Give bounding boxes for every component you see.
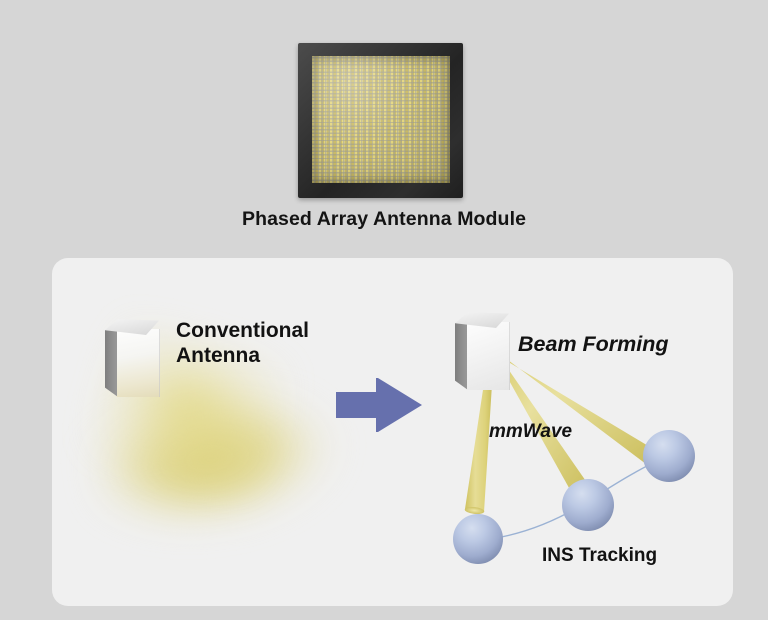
mmwave-label: mmWave (489, 421, 572, 443)
conventional-antenna-label: Conventional Antenna (176, 318, 309, 368)
conventional-antenna-label-line2: Antenna (176, 343, 309, 368)
conventional-antenna-icon (105, 319, 159, 397)
ins-tracking-label: INS Tracking (542, 545, 657, 567)
module-grid-sheen (312, 56, 450, 183)
conventional-antenna-label-line1: Conventional (176, 318, 309, 343)
beam-forming-label: Beam Forming (518, 332, 669, 357)
module-caption: Phased Array Antenna Module (0, 208, 768, 231)
phased-array-antenna-icon (455, 312, 509, 390)
module-antenna-grid (312, 56, 450, 183)
antenna-front-face (117, 329, 160, 397)
diagram-canvas: Phased Array Antenna Module (0, 0, 768, 620)
antenna-front-face (467, 322, 510, 390)
phased-array-antenna-module (298, 43, 463, 198)
